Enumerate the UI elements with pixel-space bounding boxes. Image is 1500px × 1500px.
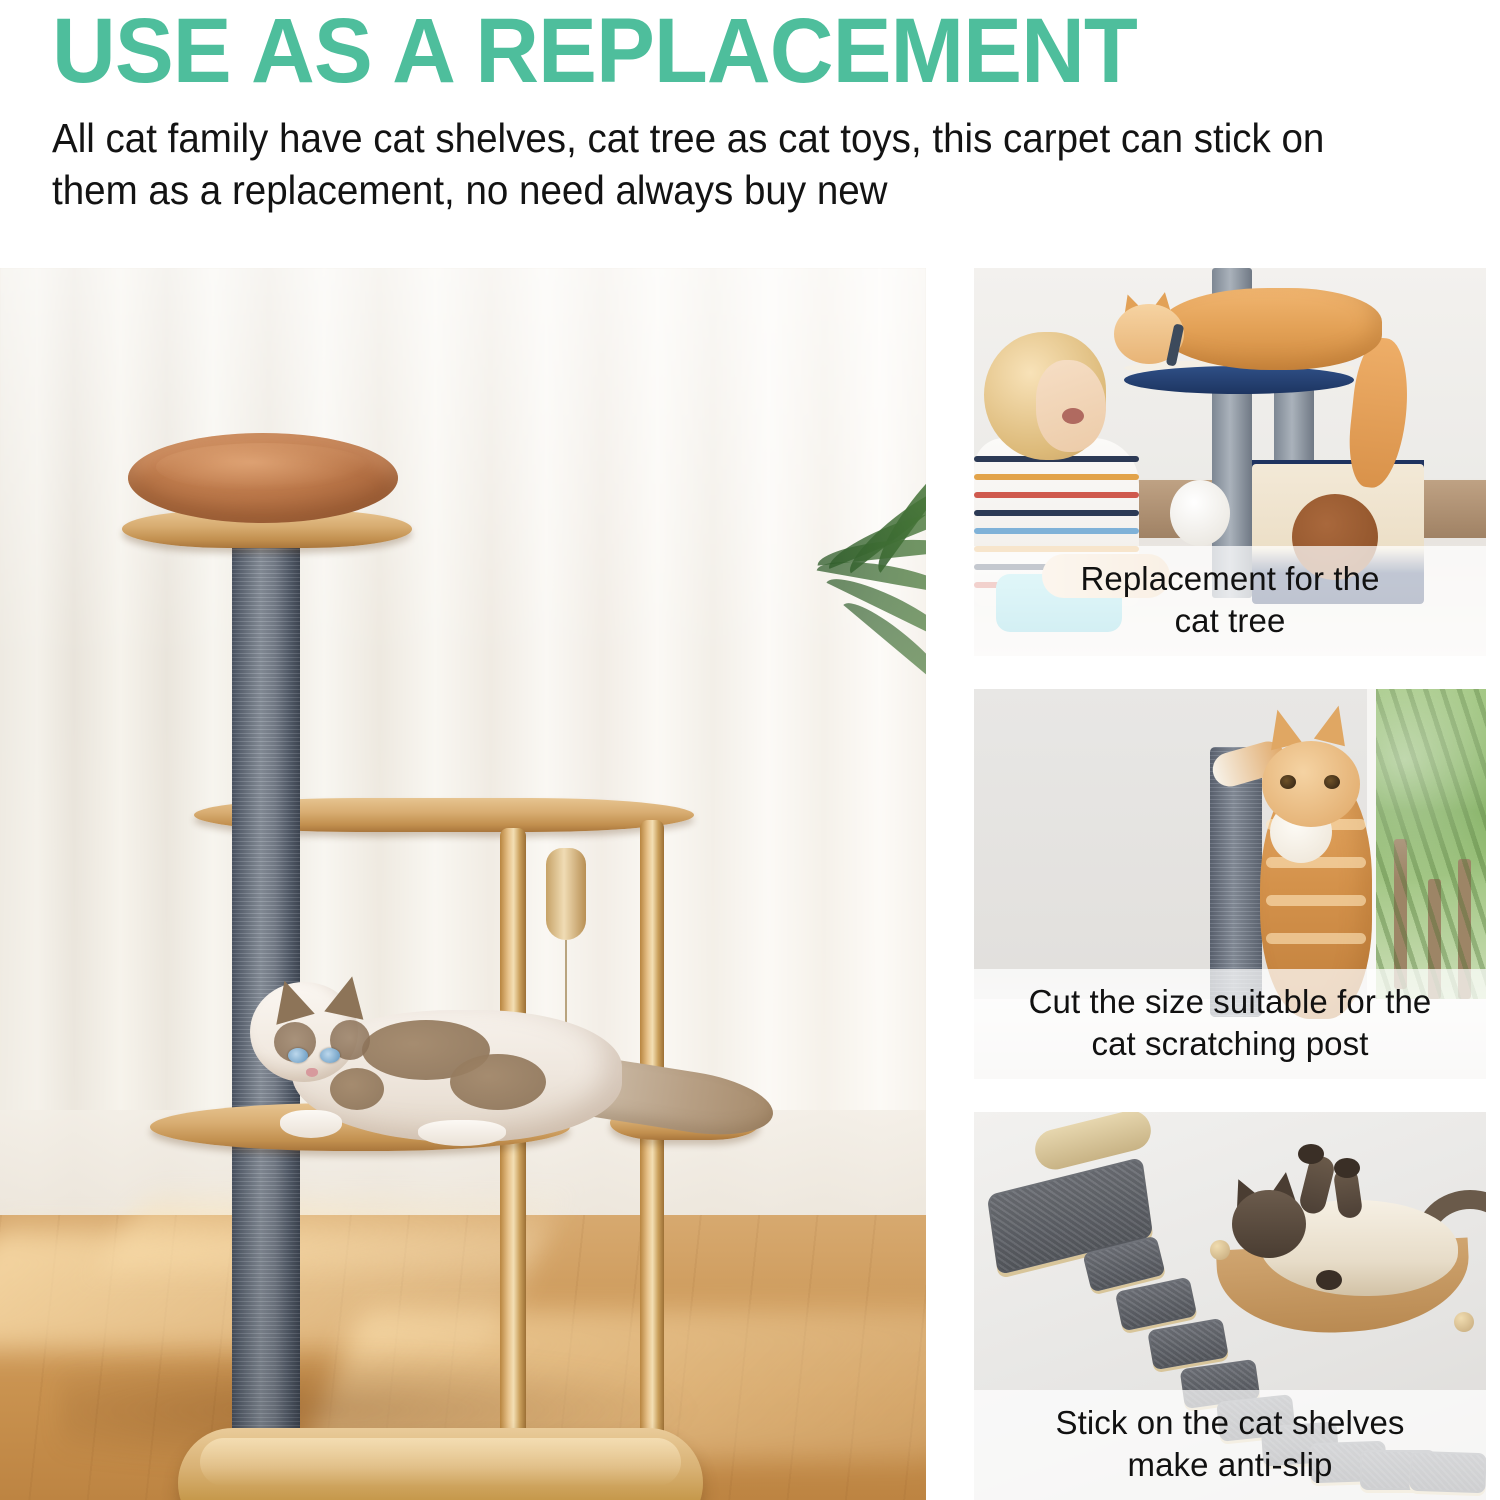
- feature-panel-list: Replacement for the cat tree Cut the siz…: [974, 268, 1486, 1500]
- header-block: USE AS A REPLACEMENT All cat family have…: [0, 0, 1500, 268]
- cat-tree: [0, 268, 926, 1500]
- cat-ear: [265, 975, 314, 1024]
- hammock-rod: [1454, 1312, 1474, 1332]
- cat-head: [250, 982, 358, 1082]
- shirt-stripe: [974, 492, 1139, 498]
- tree-trunk: [1394, 839, 1407, 989]
- caption-line-2: cat scratching post: [988, 1023, 1472, 1065]
- cat-paw: [1316, 1270, 1342, 1290]
- panel-stick-on-shelves: Stick on the cat shelves make anti-slip: [974, 1112, 1486, 1500]
- cat-fur-patch: [450, 1054, 546, 1110]
- caption-line-2: cat tree: [988, 600, 1472, 642]
- shirt-stripe: [974, 510, 1139, 516]
- page-subtitle: All cat family have cat shelves, cat tre…: [52, 112, 1368, 216]
- panel-cut-the-size: Cut the size suitable for the cat scratc…: [974, 689, 1486, 1079]
- plush-cushion: [128, 433, 398, 523]
- orange-cat-body: [1158, 288, 1382, 370]
- wood-base: [178, 1428, 703, 1500]
- cat-paw: [1298, 1144, 1324, 1164]
- page-title: USE AS A REPLACEMENT: [52, 4, 1442, 98]
- cat-fur-patch: [330, 1068, 384, 1110]
- cat-ear: [324, 972, 371, 1019]
- caption-line-2: make anti-slip: [988, 1444, 1472, 1486]
- cat-eye: [288, 1048, 308, 1063]
- cat-tree-platform: [1124, 366, 1354, 394]
- ragdoll-cat: [232, 958, 752, 1193]
- panel-caption: Cut the size suitable for the cat scratc…: [974, 969, 1486, 1079]
- siamese-cat-head: [1232, 1190, 1306, 1258]
- main-product-photo: [0, 268, 926, 1500]
- panel-caption: Stick on the cat shelves make anti-slip: [974, 1390, 1486, 1500]
- panel-replacement-cat-tree: Replacement for the cat tree: [974, 268, 1486, 656]
- caption-line-1: Replacement for the: [988, 558, 1472, 600]
- hammock-rod: [1210, 1240, 1230, 1260]
- panel-caption: Replacement for the cat tree: [974, 546, 1486, 656]
- cat-fur-stripe: [1266, 933, 1366, 944]
- hanging-toy: [546, 848, 586, 940]
- caption-line-1: Stick on the cat shelves: [988, 1402, 1472, 1444]
- child-mouth: [1062, 408, 1084, 424]
- cat-eye: [1280, 775, 1296, 789]
- cat-paw: [1334, 1158, 1360, 1178]
- scratching-cat-head: [1262, 741, 1360, 827]
- shirt-stripe: [974, 528, 1139, 534]
- white-cat-head: [1170, 480, 1230, 546]
- window-with-trees: [1376, 689, 1486, 1011]
- cat-tree-post: [1274, 388, 1314, 468]
- cat-paw: [418, 1120, 506, 1146]
- child-face: [1036, 360, 1106, 452]
- cat-eye: [1324, 775, 1340, 789]
- shirt-stripe: [974, 474, 1139, 480]
- cat-nose: [306, 1068, 318, 1077]
- caption-line-1: Cut the size suitable for the: [988, 981, 1472, 1023]
- cat-paw: [280, 1110, 342, 1138]
- cat-fur-stripe: [1266, 895, 1366, 906]
- cat-eye: [320, 1048, 340, 1063]
